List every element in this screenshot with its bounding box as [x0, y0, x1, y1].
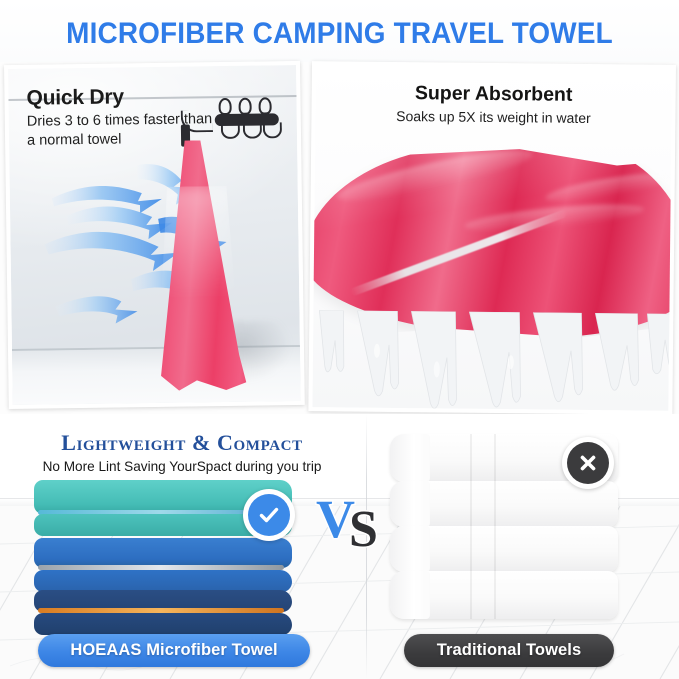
quick-dry-title: Quick Dry — [26, 85, 124, 110]
water-drips-icon — [312, 310, 672, 411]
quick-dry-subtitle: Dries 3 to 6 times faster than a normal … — [27, 110, 218, 151]
vs-letter-s: S — [349, 504, 376, 556]
towel-layer-dark-navy — [34, 613, 292, 635]
x-circle-icon — [562, 437, 614, 489]
towel-highlight — [160, 186, 236, 297]
white-towel-3 — [390, 526, 618, 572]
product-infographic: MICROFIBER CAMPING TRAVEL TOWEL — [0, 0, 679, 679]
white-towel-4 — [390, 571, 618, 619]
label-hoeaas-towel: HOEAAS Microfiber Towel — [38, 634, 310, 667]
check-circle-icon — [243, 489, 295, 541]
panel-quick-dry: Quick Dry Dries 3 to 6 times faster than… — [4, 61, 305, 409]
label-traditional-towels: Traditional Towels — [404, 634, 614, 667]
towel-layer-blue-lower — [34, 570, 292, 592]
towel-layer-blue — [34, 538, 292, 568]
comparison-title: Lightweight & Compact — [12, 430, 352, 456]
header-bar: MICROFIBER CAMPING TRAVEL TOWEL — [0, 0, 679, 62]
super-absorbent-title: Super Absorbent — [316, 81, 672, 108]
vs-separator: VS — [316, 492, 380, 547]
page-title: MICROFIBER CAMPING TRAVEL TOWEL — [24, 17, 655, 51]
comparison-subtitle: No More Lint Saving YourSpact during you… — [12, 459, 352, 474]
vs-letter-v: V — [316, 489, 353, 549]
panel-super-absorbent: Super Absorbent Soaks up 5X its weight i… — [308, 61, 676, 415]
